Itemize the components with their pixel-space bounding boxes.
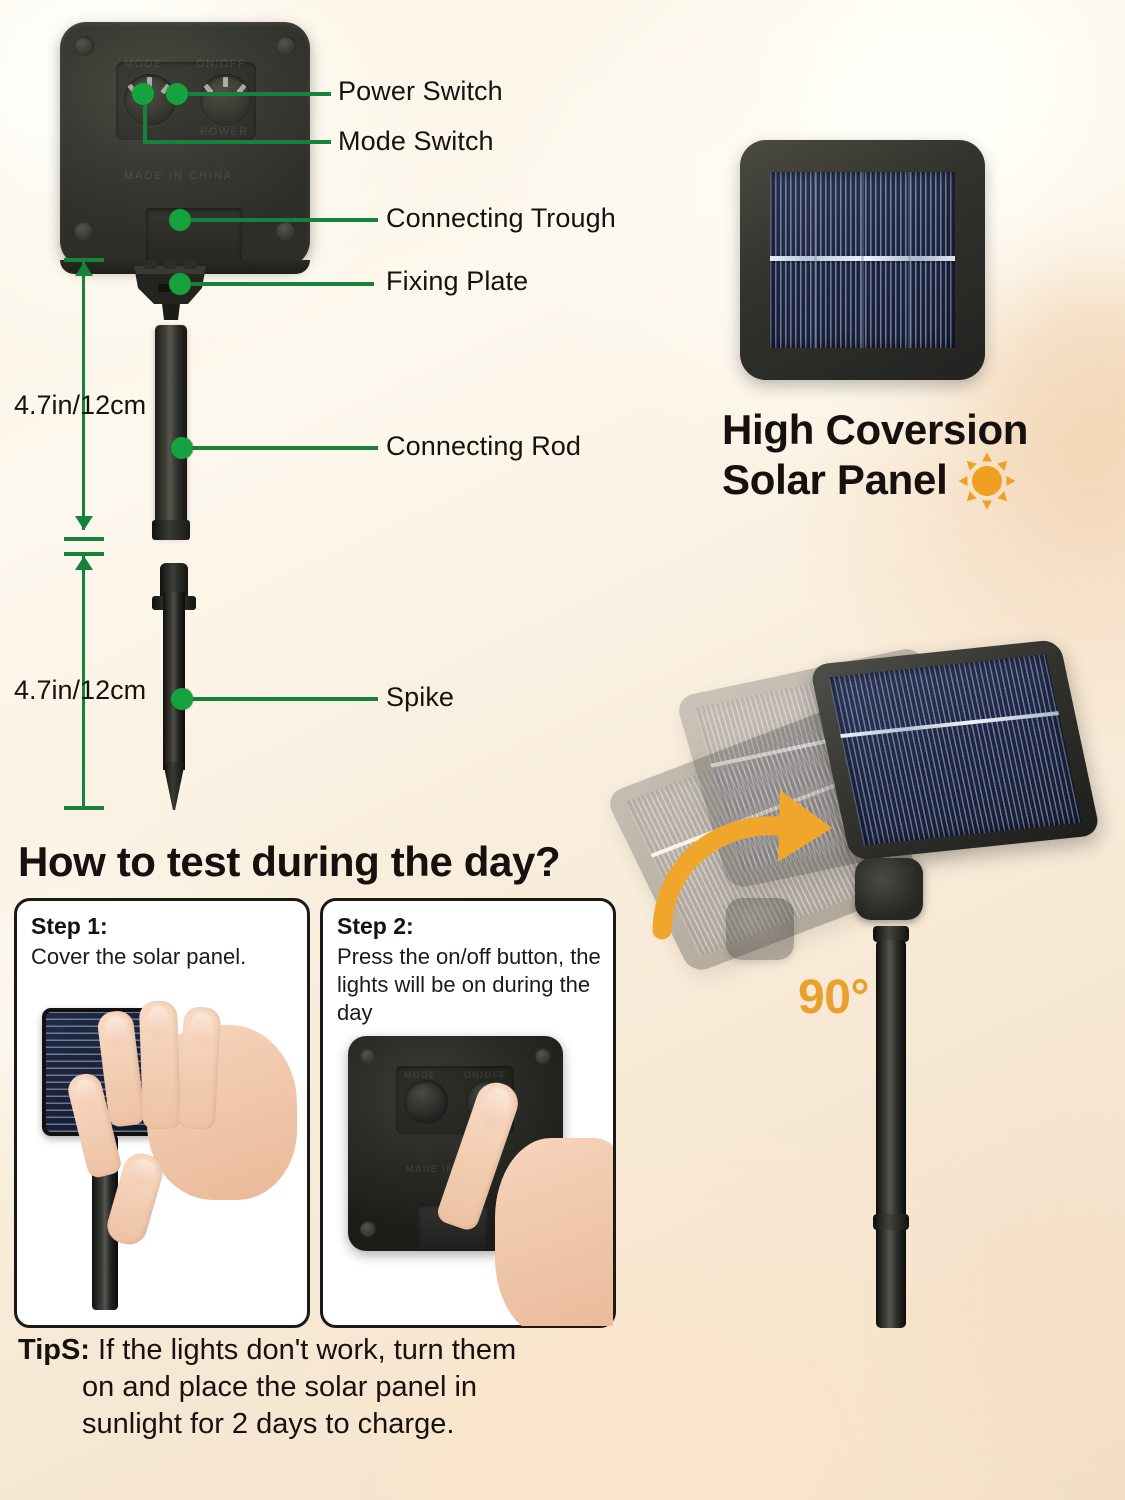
connecting-rod-part bbox=[155, 325, 187, 537]
step-1-illustration bbox=[17, 985, 307, 1325]
dimension-label-spike: 4.7in/12cm bbox=[14, 675, 146, 706]
rotation-demo: 90° bbox=[630, 640, 1125, 1340]
tips-block: TipS: If the lights don't work, turn the… bbox=[18, 1332, 658, 1443]
fixing-plate-dot bbox=[169, 273, 191, 295]
spike-shaft bbox=[163, 592, 185, 770]
connecting-trough-leader bbox=[180, 218, 378, 222]
step-2-illustration: MODE ON/OFF POWER MADE IN CHINA bbox=[323, 1018, 613, 1326]
rotation-angle-label: 90° bbox=[798, 970, 869, 1025]
finger-ring bbox=[178, 1006, 221, 1130]
step-2-body: Press the on/off button, the lights will… bbox=[337, 943, 601, 1027]
callout-label-connecting-rod: Connecting Rod bbox=[386, 431, 581, 462]
connecting-rod-cap bbox=[152, 520, 190, 540]
solar-housing-rear: MODE ON/OFF POWER MADE IN CHINA bbox=[60, 22, 310, 267]
mode-marking: MODE bbox=[124, 58, 163, 70]
callout-label-mode-switch: Mode Switch bbox=[338, 126, 494, 157]
connecting-trough-dot bbox=[169, 209, 191, 231]
sun-icon bbox=[961, 455, 1013, 507]
power-marking: POWER bbox=[200, 126, 249, 138]
headline-line-1: High Coversion bbox=[722, 406, 1028, 453]
spike-dot bbox=[171, 688, 193, 710]
infographic-canvas: MODE ON/OFF POWER MADE IN CHINA bbox=[0, 0, 1125, 1500]
power-switch-leader bbox=[177, 92, 331, 96]
solar-panel-product-photo bbox=[740, 140, 985, 380]
fixing-plate-leader bbox=[180, 282, 374, 286]
dimension-label-rod: 4.7in/12cm bbox=[14, 390, 146, 421]
pole-lower-joint bbox=[873, 1214, 909, 1230]
power-switch-knob[interactable] bbox=[200, 74, 252, 126]
headline-line-2: Solar Panel bbox=[722, 456, 947, 503]
step-1-heading: Step 1: bbox=[31, 913, 307, 940]
mode-switch-dot bbox=[132, 83, 154, 105]
solar-panel-headline: High Coversion Solar Panel bbox=[722, 405, 1122, 507]
connecting-rod-leader bbox=[182, 446, 378, 450]
power-switch-dot bbox=[166, 83, 188, 105]
tips-line-3: sunlight for 2 days to charge. bbox=[18, 1406, 658, 1443]
connecting-rod-dot bbox=[171, 437, 193, 459]
step-2-heading: Step 2: bbox=[337, 913, 613, 940]
spike-leader bbox=[182, 697, 378, 701]
how-to-test-title: How to test during the day? bbox=[18, 838, 560, 886]
tips-label: TipS: bbox=[18, 1334, 90, 1366]
callout-label-fixing-plate: Fixing Plate bbox=[386, 266, 528, 297]
callout-label-connecting-trough: Connecting Trough bbox=[386, 203, 616, 234]
callout-label-spike: Spike bbox=[386, 682, 454, 713]
finger-middle bbox=[139, 1000, 181, 1129]
step2-mode-button[interactable] bbox=[404, 1080, 448, 1124]
mode-switch-leader bbox=[143, 140, 331, 144]
origin-marking: MADE IN CHINA bbox=[124, 170, 233, 182]
pressing-hand bbox=[495, 1138, 613, 1326]
mounting-pole bbox=[876, 940, 906, 1328]
callout-label-power-switch: Power Switch bbox=[338, 76, 503, 107]
onoff-marking: ON/OFF bbox=[196, 58, 246, 70]
step2-onoff-marking: ON/OFF bbox=[464, 1070, 506, 1080]
step-1-body: Cover the solar panel. bbox=[31, 943, 295, 971]
tips-line-2: on and place the solar panel in bbox=[18, 1369, 658, 1406]
tips-line-1: If the lights don't work, turn them bbox=[98, 1334, 516, 1366]
step2-mode-marking: MODE bbox=[404, 1070, 437, 1080]
photovoltaic-cell bbox=[770, 172, 955, 348]
